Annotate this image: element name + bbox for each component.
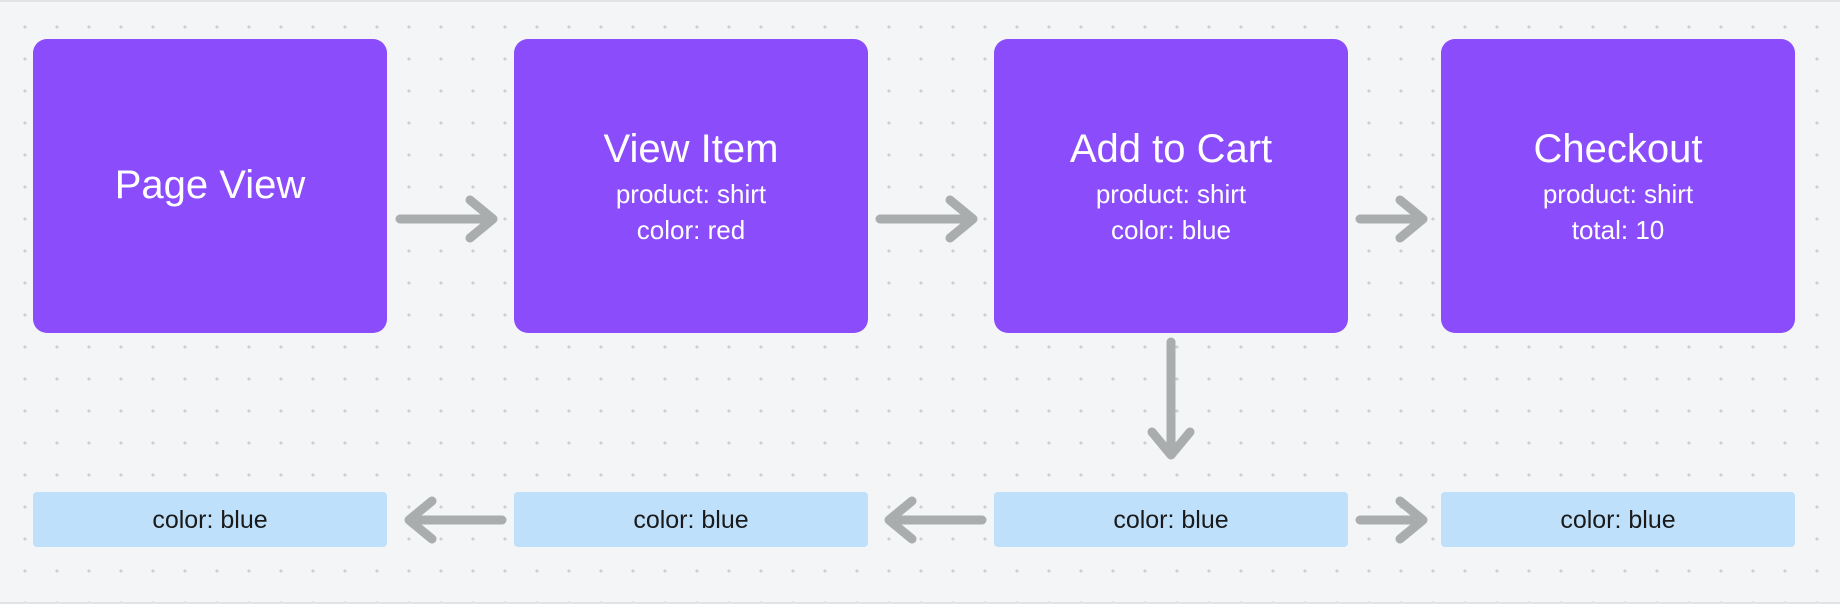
property-node-label: color: blue: [1113, 505, 1228, 535]
event-node-add-to-cart[interactable]: Add to Cart product: shirt color: blue: [994, 39, 1348, 333]
event-node-title: Page View: [115, 160, 306, 210]
event-node-properties: product: shirt total: 10: [1543, 176, 1693, 248]
arrow-left-property-3-to-property-2: [876, 495, 986, 545]
event-node-properties: product: shirt color: red: [616, 176, 766, 248]
event-node-property: total: 10: [1572, 212, 1665, 248]
event-node-property: product: shirt: [1096, 176, 1246, 212]
event-node-title: View Item: [604, 124, 779, 174]
property-node-2[interactable]: color: blue: [514, 492, 868, 547]
property-node-label: color: blue: [633, 505, 748, 535]
arrow-right-page-view-to-view-item: [396, 194, 506, 244]
arrow-right-add-to-cart-to-checkout: [1356, 194, 1436, 244]
event-node-property: color: blue: [1111, 212, 1231, 248]
arrow-right-view-item-to-add-to-cart: [876, 194, 986, 244]
event-node-page-view[interactable]: Page View: [33, 39, 387, 333]
property-node-label: color: blue: [1560, 505, 1675, 535]
property-node-4[interactable]: color: blue: [1441, 492, 1795, 547]
event-node-property: color: red: [637, 212, 745, 248]
event-node-property: product: shirt: [616, 176, 766, 212]
arrow-right-property-3-to-property-4: [1356, 495, 1436, 545]
diagram-canvas[interactable]: Page View View Item product: shirt color…: [0, 0, 1840, 604]
event-node-checkout[interactable]: Checkout product: shirt total: 10: [1441, 39, 1795, 333]
event-node-title: Checkout: [1534, 124, 1703, 174]
property-node-3[interactable]: color: blue: [994, 492, 1348, 547]
property-node-label: color: blue: [152, 505, 267, 535]
event-node-properties: product: shirt color: blue: [1096, 176, 1246, 248]
arrow-left-property-2-to-property-1: [396, 495, 506, 545]
event-node-property: product: shirt: [1543, 176, 1693, 212]
property-node-1[interactable]: color: blue: [33, 492, 387, 547]
event-node-title: Add to Cart: [1070, 124, 1272, 174]
arrow-down-add-to-cart-to-property: [1146, 338, 1196, 468]
event-node-view-item[interactable]: View Item product: shirt color: red: [514, 39, 868, 333]
